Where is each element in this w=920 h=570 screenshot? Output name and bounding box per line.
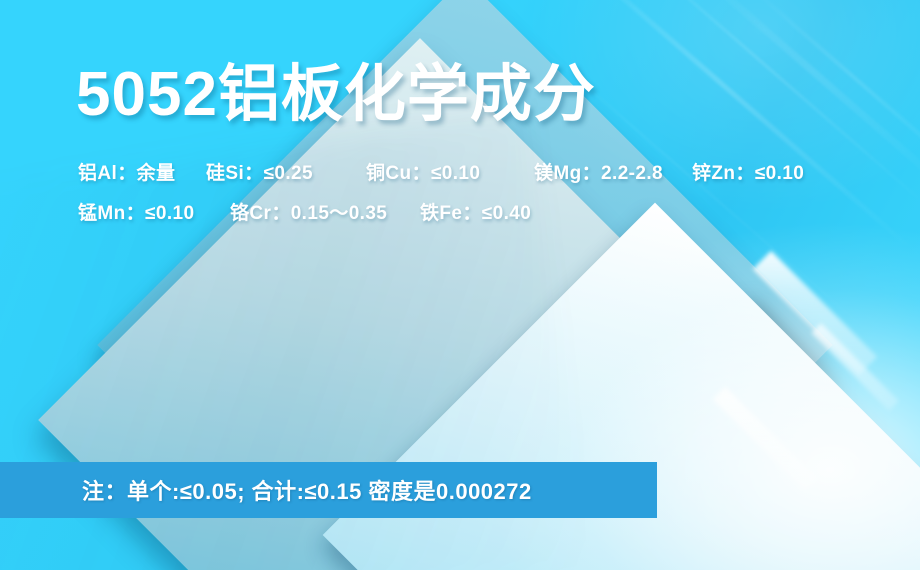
element-value-fe: ≤0.40 <box>482 203 531 224</box>
aluminum-spec-poster: 5052铝板化学成分 铝Al：余量 硅Si：≤0.25 铜Cu：≤0.10 镁M… <box>0 0 920 570</box>
element-label-mn: 锰Mn： <box>78 203 145 224</box>
composition-item-cu: 铜Cu：≤0.10 <box>366 158 534 185</box>
element-value-cr: 0.15～0.35 <box>291 203 388 224</box>
element-label-si: 硅Si： <box>206 163 264 184</box>
composition-item-zn: 锌Zn：≤0.10 <box>692 158 852 185</box>
composition-item-mg: 镁Mg：2.2-2.8 <box>534 158 692 185</box>
chemical-composition-list: 铝Al：余量 硅Si：≤0.25 铜Cu：≤0.10 镁Mg：2.2-2.8 锌… <box>78 158 852 238</box>
composition-row: 锰Mn：≤0.10 铬Cr：0.15～0.35 铁Fe：≤0.40 <box>78 198 852 238</box>
element-value-mg: 2.2-2.8 <box>601 163 663 184</box>
element-label-mg: 镁Mg： <box>534 163 601 184</box>
element-value-zn: ≤0.10 <box>755 163 804 184</box>
poster-content: 5052铝板化学成分 铝Al：余量 硅Si：≤0.25 铜Cu：≤0.10 镁M… <box>0 0 920 570</box>
note-bar: 注：单个:≤0.05; 合计:≤0.15 密度是0.000272 <box>0 462 657 518</box>
composition-item-mn: 锰Mn：≤0.10 <box>78 198 230 225</box>
element-value-cu: ≤0.10 <box>431 163 480 184</box>
element-value-al: 余量 <box>137 163 176 184</box>
page-title: 5052铝板化学成分 <box>76 62 596 127</box>
element-label-cu: 铜Cu： <box>366 163 431 184</box>
element-label-fe: 铁Fe： <box>420 203 482 224</box>
element-label-zn: 锌Zn： <box>692 163 755 184</box>
composition-item-cr: 铬Cr：0.15～0.35 <box>230 198 420 225</box>
composition-item-si: 硅Si：≤0.25 <box>206 158 366 185</box>
element-value-si: ≤0.25 <box>264 163 313 184</box>
element-value-mn: ≤0.10 <box>145 203 194 224</box>
composition-item-fe: 铁Fe：≤0.40 <box>420 198 580 225</box>
composition-row: 铝Al：余量 硅Si：≤0.25 铜Cu：≤0.10 镁Mg：2.2-2.8 锌… <box>78 158 852 198</box>
composition-item-al: 铝Al：余量 <box>78 158 206 185</box>
note-text: 注：单个:≤0.05; 合计:≤0.15 密度是0.000272 <box>82 474 532 506</box>
element-label-al: 铝Al： <box>78 163 137 184</box>
element-label-cr: 铬Cr： <box>230 203 291 224</box>
